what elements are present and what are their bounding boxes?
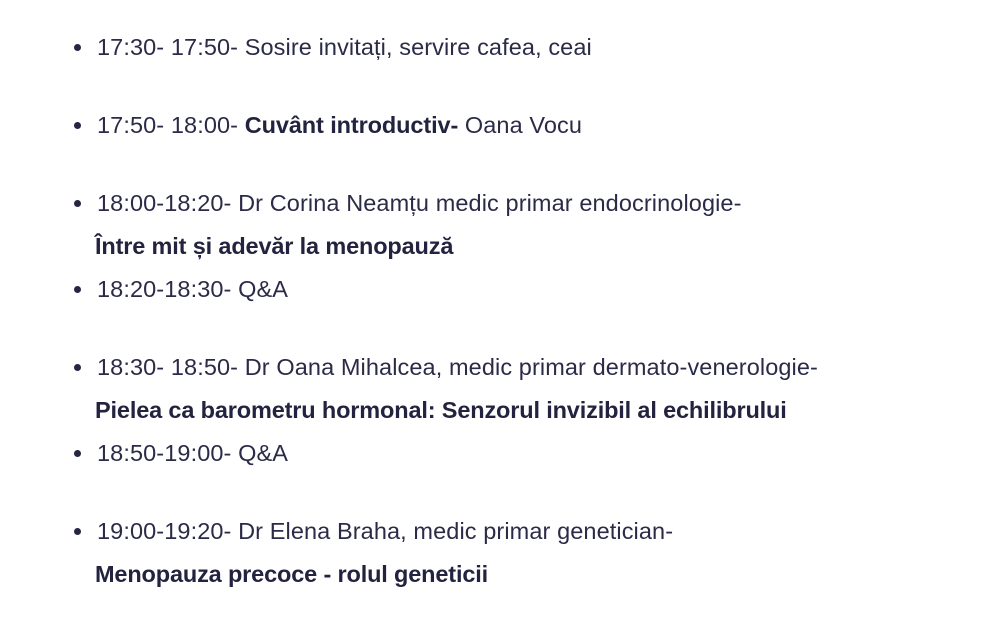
agenda-group-sosire: 17:30- 17:50- Sosire invitați, servire c… (0, 26, 993, 68)
agenda-entry-label: Q&A (238, 440, 288, 466)
agenda-entry-text: 18:20-18:30- Q&A (97, 268, 993, 310)
list-item: 17:50- 18:00- Cuvânt introductiv- Oana V… (0, 104, 993, 146)
agenda-talk-title: Menopauza precoce - rolul geneticii (0, 552, 993, 596)
bullet-icon (74, 200, 81, 207)
agenda-entry-tail: Oana Vocu (458, 112, 582, 138)
bullet-icon (74, 450, 81, 457)
bullet-icon (74, 528, 81, 535)
agenda-entry-label: Dr Oana Mihalcea, medic primar dermato-v… (245, 354, 818, 380)
agenda-entry-label: Dr Elena Braha, medic primar genetician- (238, 518, 673, 544)
list-item: 18:50-19:00- Q&A (0, 432, 993, 474)
bullet-icon (74, 286, 81, 293)
bullet-icon (74, 44, 81, 51)
agenda-slide: 17:30- 17:50- Sosire invitați, servire c… (0, 26, 993, 626)
agenda-entry-text: 19:00-19:20- Dr Elena Braha, medic prima… (97, 510, 993, 552)
bullet-icon (74, 122, 81, 129)
agenda-entry-label: Dr Corina Neamțu medic primar endocrinol… (238, 190, 741, 216)
agenda-talk-title: Între mit și adevăr la menopauză (0, 224, 993, 268)
agenda-entry-emphasis: Cuvânt introductiv- (245, 112, 459, 138)
agenda-entry-time: 18:30- 18:50- (97, 354, 245, 380)
agenda-entry-text: 17:30- 17:50- Sosire invitați, servire c… (97, 26, 993, 68)
agenda-entry-label: Q&A (238, 276, 288, 302)
agenda-entry-text: 17:50- 18:00- Cuvânt introductiv- Oana V… (97, 104, 993, 146)
agenda-group-braha: 19:00-19:20- Dr Elena Braha, medic prima… (0, 510, 993, 596)
agenda-entry-time: 17:30- 17:50- (97, 34, 245, 60)
agenda-entry-time: 18:00-18:20- (97, 190, 238, 216)
agenda-group-cuvant-introductiv: 17:50- 18:00- Cuvânt introductiv- Oana V… (0, 104, 993, 146)
list-item: 18:20-18:30- Q&A (0, 268, 993, 310)
agenda-entry-time: 18:20-18:30- (97, 276, 238, 302)
list-item: 18:30- 18:50- Dr Oana Mihalcea, medic pr… (0, 346, 993, 388)
agenda-entry-label: Sosire invitați, servire cafea, ceai (245, 34, 592, 60)
agenda-talk-title: Pielea ca barometru hormonal: Senzorul i… (0, 388, 993, 432)
list-item: 19:00-19:20- Dr Elena Braha, medic prima… (0, 510, 993, 552)
list-item: 17:30- 17:50- Sosire invitați, servire c… (0, 26, 993, 68)
agenda-entry-text: 18:50-19:00- Q&A (97, 432, 993, 474)
agenda-entry-time: 19:00-19:20- (97, 518, 238, 544)
agenda-entry-text: 18:30- 18:50- Dr Oana Mihalcea, medic pr… (97, 346, 993, 388)
agenda-entry-time: 17:50- 18:00- (97, 112, 245, 138)
agenda-group-mihalcea: 18:30- 18:50- Dr Oana Mihalcea, medic pr… (0, 346, 993, 474)
bullet-icon (74, 364, 81, 371)
agenda-entry-text: 18:00-18:20- Dr Corina Neamțu medic prim… (97, 182, 993, 224)
agenda-entry-time: 18:50-19:00- (97, 440, 238, 466)
list-item: 18:00-18:20- Dr Corina Neamțu medic prim… (0, 182, 993, 224)
agenda-group-neamtu: 18:00-18:20- Dr Corina Neamțu medic prim… (0, 182, 993, 310)
